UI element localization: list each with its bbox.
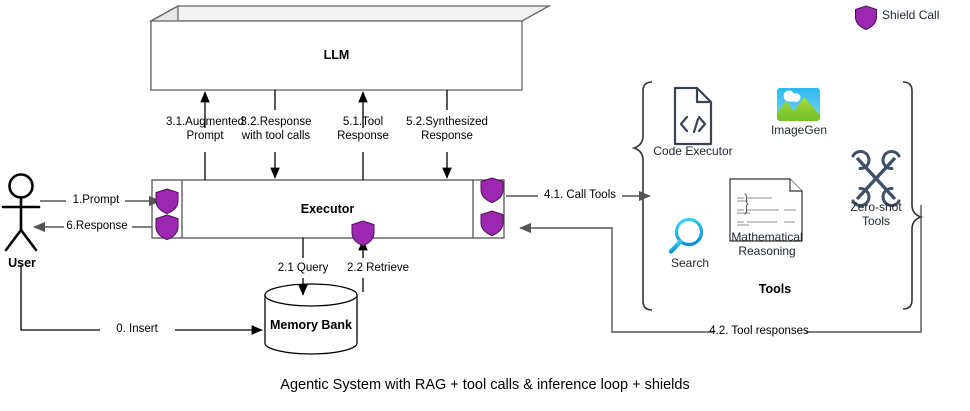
edge-0-insert [21, 265, 262, 330]
diagram-canvas: LLM Executor Memory Bank User Tools 3.1.… [0, 0, 970, 411]
user-label: User [0, 256, 44, 270]
tools-group-label: Tools [735, 282, 815, 296]
user-node [3, 175, 39, 251]
tool-label-search: Search [655, 256, 725, 270]
tool-label-imagegen: ImageGen [756, 123, 842, 137]
edge-label-4-1-call-tools: 4.1. Call Tools [534, 189, 626, 203]
edge-label-0-insert: 0. Insert [98, 323, 176, 337]
executor-label: Executor [182, 202, 473, 216]
tools-brace-right [903, 82, 921, 309]
edge-label-2-1-query: 2.1 Query [265, 262, 341, 276]
image-gen-icon [777, 88, 820, 121]
crossed-wrenches-icon [853, 152, 899, 206]
magnifier-icon [671, 220, 702, 252]
code-document-icon [675, 88, 711, 144]
edge-label-4-2-tool-responses: 4.2. Tool responses [709, 325, 809, 339]
edge-label-6-response: 6.Response [58, 220, 136, 234]
edge-label-1-prompt: 1.Prompt [61, 194, 131, 208]
tool-label-code-executor: Code Executor [645, 144, 741, 158]
shield-icon-legend [856, 6, 877, 30]
llm-label: LLM [151, 48, 522, 62]
legend-shield-label: Shield Call [882, 8, 970, 22]
memory-bank-label: Memory Bank [255, 318, 367, 332]
tool-label-zero-shot-tools: Zero-shot Tools [836, 200, 916, 228]
tool-label-mathematical-reasoning: Mathematical Reasoning [722, 230, 812, 258]
edge-label-5-2: 5.2.Synthesized Response [385, 116, 509, 143]
diagram-caption: Agentic System with RAG + tool calls & i… [0, 377, 970, 393]
shield-icon-executor-memory [352, 221, 374, 246]
edge-label-2-2-retrieve: 2.2 Retrieve [335, 262, 421, 276]
